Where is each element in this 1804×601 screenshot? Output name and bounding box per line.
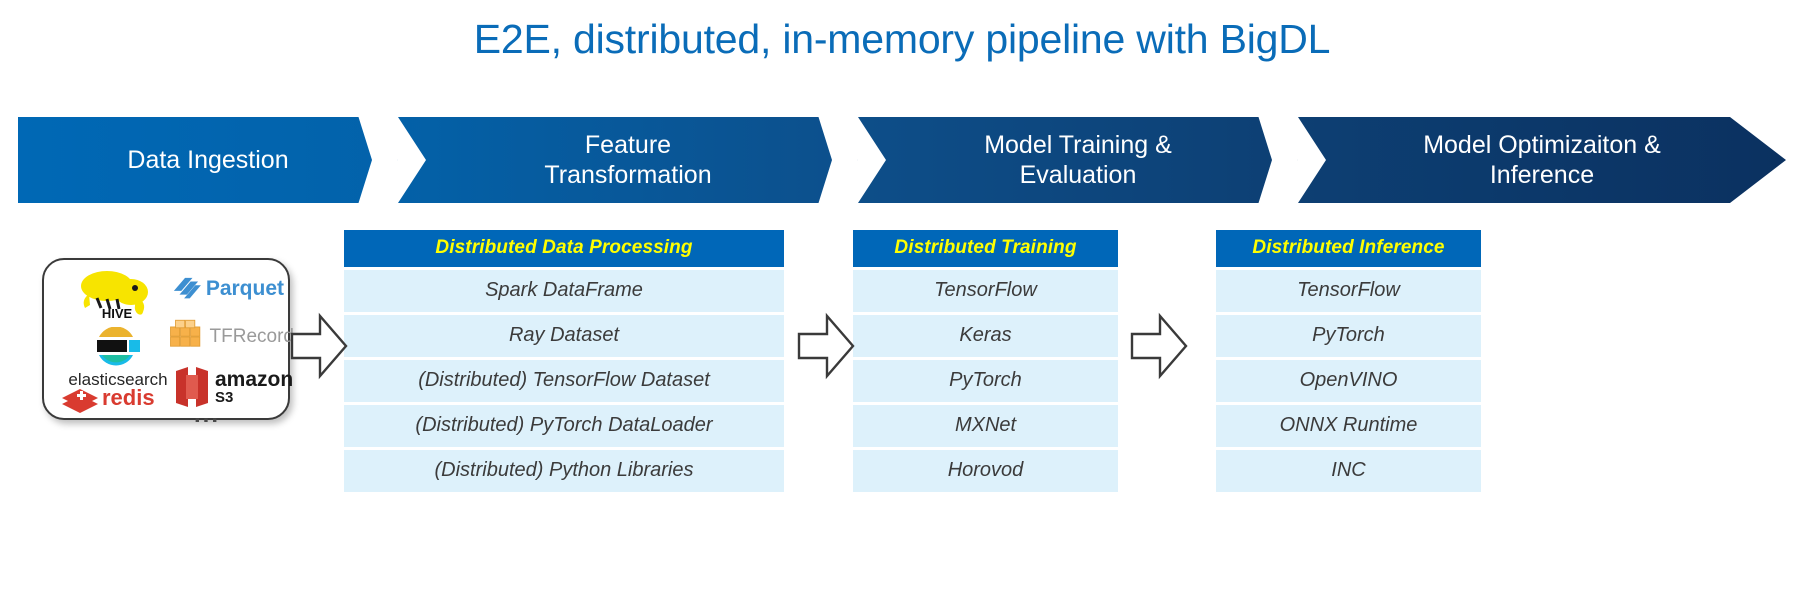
more-sources-ellipsis: ... <box>194 406 254 424</box>
tfrecord-boxes-icon <box>168 315 207 359</box>
stack-table-training: Distributed Training TensorFlow Keras Py… <box>853 230 1118 492</box>
stack-table-row[interactable]: Ray Dataset <box>344 315 784 357</box>
pipeline-stage-model-training[interactable]: Model Training & Evaluation <box>858 117 1298 203</box>
svg-text:HIVE: HIVE <box>102 306 133 320</box>
stack-table-row[interactable]: Spark DataFrame <box>344 270 784 312</box>
ellipsis-label: ... <box>194 401 220 429</box>
stack-table-row[interactable]: ONNX Runtime <box>1216 405 1481 447</box>
pipeline-banner: Data Ingestion Feature Transformation Mo… <box>18 117 1786 203</box>
hive-elephant-icon: HIVE <box>77 268 155 320</box>
redis-logo: redis <box>60 380 180 416</box>
parquet-logo: Parquet <box>172 272 284 306</box>
stack-table-data-processing: Distributed Data Processing Spark DataFr… <box>344 230 784 492</box>
stack-table-row[interactable]: MXNet <box>853 405 1118 447</box>
stack-table-row[interactable]: PyTorch <box>853 360 1118 402</box>
stack-table-inference: Distributed Inference TensorFlow PyTorch… <box>1216 230 1481 492</box>
elasticsearch-mark-icon <box>95 327 141 367</box>
amazon-label: amazon <box>215 369 293 390</box>
tfrecord-label: TFRecord <box>210 326 294 348</box>
tfrecord-logo: TFRecord <box>168 314 294 360</box>
redis-label: redis <box>102 385 155 411</box>
parquet-label: Parquet <box>206 277 284 301</box>
stack-table-row[interactable]: OpenVINO <box>1216 360 1481 402</box>
stack-table-header: Distributed Data Processing <box>344 230 784 267</box>
flow-arrow-ingestion-to-processing <box>290 312 348 380</box>
pipeline-stage-model-optimization[interactable]: Model Optimizaiton & Inference <box>1298 117 1786 203</box>
amazon-s3-logo: amazon S3 <box>172 364 294 410</box>
stack-table-row[interactable]: PyTorch <box>1216 315 1481 357</box>
stack-table-header: Distributed Inference <box>1216 230 1481 267</box>
pipeline-stage-feature-transformation[interactable]: Feature Transformation <box>398 117 858 203</box>
redis-mark-icon <box>60 382 100 414</box>
hive-logo: HIVE <box>66 268 166 320</box>
stack-table-row[interactable]: (Distributed) TensorFlow Dataset <box>344 360 784 402</box>
stack-table-row[interactable]: TensorFlow <box>1216 270 1481 312</box>
stack-table-row[interactable]: Horovod <box>853 450 1118 492</box>
parquet-mark-icon <box>172 275 202 303</box>
flow-arrow-processing-to-training <box>797 312 855 380</box>
pipeline-stage-label: Model Optimizaiton & Inference <box>1395 130 1689 191</box>
stack-table-row[interactable]: INC <box>1216 450 1481 492</box>
stack-table-row[interactable]: Keras <box>853 315 1118 357</box>
page-title: E2E, distributed, in-memory pipeline wit… <box>0 16 1804 63</box>
pipeline-stage-label: Feature Transformation <box>516 130 739 191</box>
pipeline-stage-label: Model Training & Evaluation <box>956 130 1200 191</box>
stack-table-header: Distributed Training <box>853 230 1118 267</box>
s3-label: S3 <box>215 390 293 405</box>
stack-table-row[interactable]: (Distributed) Python Libraries <box>344 450 784 492</box>
stack-table-row[interactable]: TensorFlow <box>853 270 1118 312</box>
stack-table-row[interactable]: (Distributed) PyTorch DataLoader <box>344 405 784 447</box>
data-source-box: HIVE Parquet elasticsearch <box>42 258 290 420</box>
pipeline-stage-data-ingestion[interactable]: Data Ingestion <box>18 117 398 203</box>
pipeline-stage-label: Data Ingestion <box>99 145 316 176</box>
flow-arrow-training-to-inference <box>1130 312 1188 380</box>
